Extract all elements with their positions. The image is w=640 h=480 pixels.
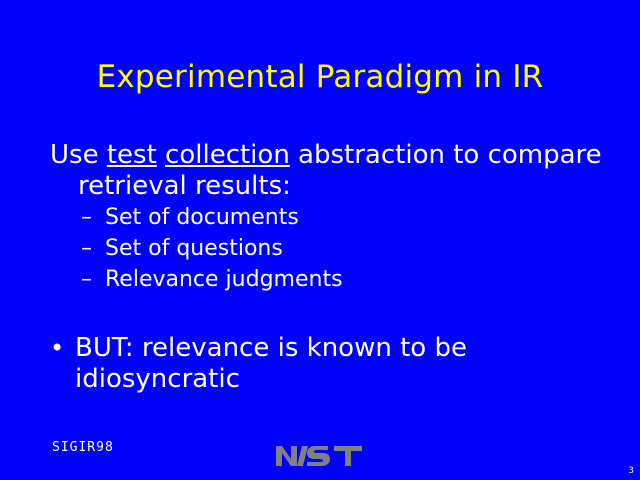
sub-bullet-label: Set of questions (105, 236, 283, 261)
bullet-item-2: • BUT: relevance is known to be idiosync… (50, 333, 610, 395)
bullet-item-1: Use test collection abstraction to compa… (50, 140, 610, 202)
sub-bullet-item-questions: – Set of questions (50, 233, 610, 264)
slide-body: Use test collection abstraction to compa… (50, 140, 610, 395)
bullet-item-2-label: BUT: relevance is known to be idiosyncra… (50, 333, 610, 395)
slide-page-number: 3 (628, 466, 634, 477)
bullet-1-suffix: abstraction to compare (290, 140, 602, 170)
bullet-item-1-line2: retrieval results: (50, 171, 610, 202)
nist-logo (276, 444, 362, 470)
sub-bullet-label: Set of documents (105, 205, 299, 230)
slide-title: Experimental Paradigm in IR (0, 58, 640, 96)
body-spacer (50, 295, 610, 333)
bullet-marker-icon: • (50, 333, 72, 364)
sub-bullet-item-documents: – Set of documents (50, 202, 610, 233)
sub-bullet-label: Relevance judgments (105, 267, 343, 292)
bullet-1-middle (157, 140, 165, 170)
dash-marker-icon: – (81, 202, 92, 233)
presentation-slide: Experimental Paradigm in IR Use test col… (0, 0, 640, 480)
dash-marker-icon: – (81, 233, 92, 264)
dash-marker-icon: – (81, 264, 92, 295)
bullet-1-underlined-test: test (107, 140, 157, 170)
footer-conference-label: SIGIR98 (52, 440, 114, 456)
bullet-1-underlined-collection: collection (165, 140, 290, 170)
bullet-1-prefix: Use (50, 140, 107, 170)
bullet-item-1-line1: Use test collection abstraction to compa… (50, 140, 610, 171)
sub-bullet-item-relevance: – Relevance judgments (50, 264, 610, 295)
sub-bullet-list: – Set of documents – Set of questions – … (50, 202, 610, 295)
